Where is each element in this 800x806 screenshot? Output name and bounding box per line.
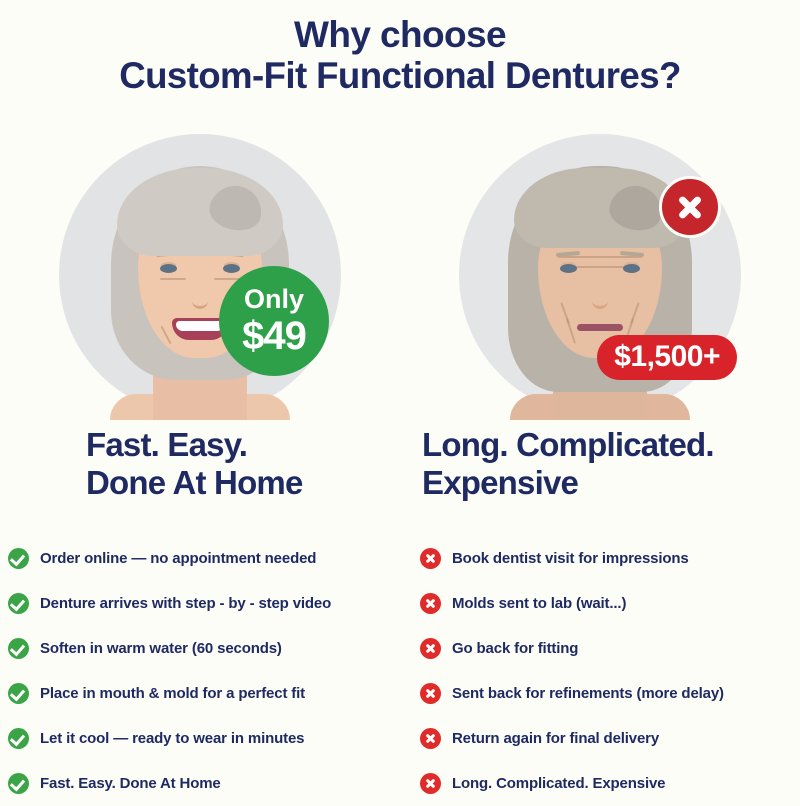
right-subheading-line-1: Long. Complicated.: [422, 426, 800, 464]
x-circle-icon: [420, 638, 441, 659]
wrinkle: [160, 278, 186, 280]
list-item: Book dentist visit for impressions: [420, 536, 800, 581]
list-item: Long. Complicated. Expensive: [420, 761, 800, 806]
wrinkle: [558, 256, 642, 258]
column-custom-fit: Only $49 Fast. Easy. Done At Home: [0, 126, 400, 526]
list-item-label: Place in mouth & mold for a perfect fit: [40, 685, 305, 702]
list-item-label: Go back for fitting: [452, 640, 578, 657]
x-circle-icon: [420, 728, 441, 749]
drawbacks-list: Book dentist visit for impressions Molds…: [420, 536, 800, 806]
price-badge-label: Only: [244, 286, 304, 313]
headline-line-1: Why choose: [0, 14, 800, 55]
x-circle-icon: [420, 548, 441, 569]
benefits-list: Order online — no appointment needed Den…: [8, 536, 408, 806]
wrinkle: [566, 318, 576, 343]
comparison-ad-graphic: Why choose Custom-Fit Functional Denture…: [0, 0, 800, 800]
list-item-label: Book dentist visit for impressions: [452, 550, 689, 567]
list-item-label: Denture arrives with step - by - step vi…: [40, 595, 331, 612]
list-item: Place in mouth & mold for a perfect fit: [8, 671, 408, 716]
check-circle-icon: [8, 548, 29, 569]
column-traditional: $1,500+ Long. Complicated. Expensive: [400, 126, 800, 526]
list-item-label: Let it cool — ready to wear in minutes: [40, 730, 304, 747]
eye-right: [223, 264, 240, 273]
hair-front-shape: [117, 168, 283, 256]
list-item: Soften in warm water (60 seconds): [8, 626, 408, 671]
list-item: Return again for final delivery: [420, 716, 800, 761]
list-item: Sent back for refinements (more delay): [420, 671, 800, 716]
nose-shape: [592, 278, 608, 309]
benefit-comparison-lists: Order online — no appointment needed Den…: [0, 536, 800, 800]
right-photo-area: $1,500+: [459, 134, 741, 416]
list-item: Molds sent to lab (wait...): [420, 581, 800, 626]
right-subheading: Long. Complicated. Expensive: [400, 426, 800, 503]
list-item-label: Molds sent to lab (wait...): [452, 595, 626, 612]
list-item: Order online — no appointment needed: [8, 536, 408, 581]
x-circle-icon: [420, 593, 441, 614]
nose-shape: [192, 278, 208, 309]
headline-line-2: Custom-Fit Functional Dentures?: [4, 55, 796, 96]
price-badge-circle: Only $49: [219, 266, 329, 376]
x-circle-icon: [659, 176, 721, 238]
right-subheading-line-2: Expensive: [422, 464, 800, 502]
x-circle-icon: [420, 683, 441, 704]
price-badge-amount: $49: [242, 316, 306, 356]
eye-right: [623, 264, 640, 273]
hair-part-shape: [606, 181, 666, 235]
left-photo-area: Only $49: [59, 134, 341, 416]
list-item: Go back for fitting: [420, 626, 800, 671]
list-item-label: Order online — no appointment needed: [40, 550, 316, 567]
neutral-mouth: [577, 324, 623, 331]
price-pill-badge: $1,500+: [597, 335, 737, 381]
comparison-columns: Only $49 Fast. Easy. Done At Home: [0, 126, 800, 526]
teeth-shape: [176, 321, 224, 331]
list-item: Denture arrives with step - by - step vi…: [8, 581, 408, 626]
list-item: Let it cool — ready to wear in minutes: [8, 716, 408, 761]
hair-part-shape: [206, 181, 266, 235]
list-item-label: Fast. Easy. Done At Home: [40, 775, 221, 792]
wrinkle: [160, 326, 171, 345]
list-item-label: Soften in warm water (60 seconds): [40, 640, 282, 657]
check-circle-icon: [8, 728, 29, 749]
page-title: Why choose Custom-Fit Functional Denture…: [0, 14, 800, 97]
list-item: Fast. Easy. Done At Home: [8, 761, 408, 806]
eye-left: [560, 264, 577, 273]
list-item-label: Return again for final delivery: [452, 730, 659, 747]
x-circle-icon: [420, 773, 441, 794]
check-circle-icon: [8, 773, 29, 794]
check-circle-icon: [8, 683, 29, 704]
check-circle-icon: [8, 638, 29, 659]
eye-left: [160, 264, 177, 273]
list-item-label: Long. Complicated. Expensive: [452, 775, 665, 792]
check-circle-icon: [8, 593, 29, 614]
list-item-label: Sent back for refinements (more delay): [452, 685, 724, 702]
